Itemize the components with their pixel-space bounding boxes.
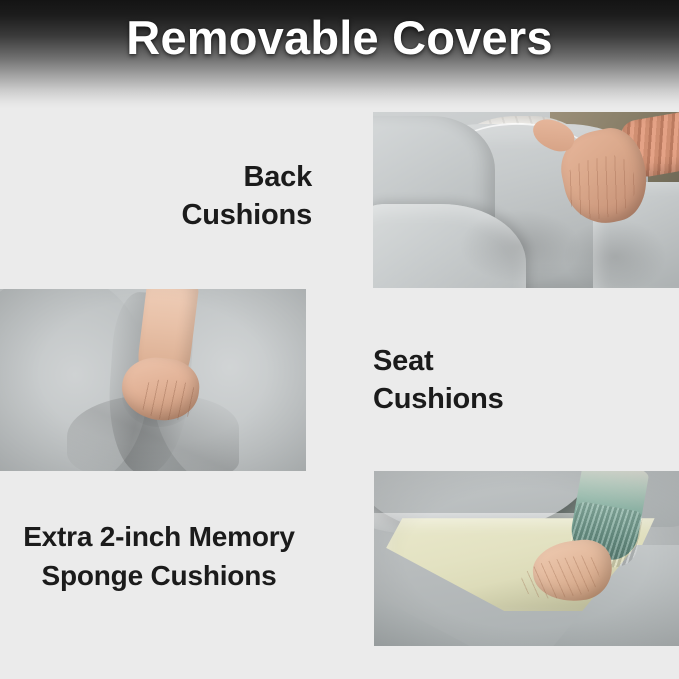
photo-vignette [374,471,679,646]
caption-line-2: Cushions [40,196,312,234]
caption-line-1: Extra 2-inch Memory [0,518,318,557]
memory-sponge-caption: Extra 2-inch Memory Sponge Cushions [0,518,318,595]
seat-cushions-caption: Seat Cushions [373,342,663,419]
photo-vignette [0,289,306,471]
page-title: Removable Covers [0,13,679,64]
photo-shadow-b [563,218,667,288]
caption-line-1: Seat [373,342,663,380]
seat-cushion-photo [0,289,306,471]
back-cushion-photo [373,112,679,288]
back-cushions-caption: Back Cushions [40,158,312,235]
memory-foam-photo [374,471,679,646]
caption-line-2: Cushions [373,380,663,418]
caption-line-2: Sponge Cushions [0,557,318,596]
infographic-canvas: Removable Covers Back Cushions [0,0,679,679]
caption-line-1: Back [40,158,312,196]
